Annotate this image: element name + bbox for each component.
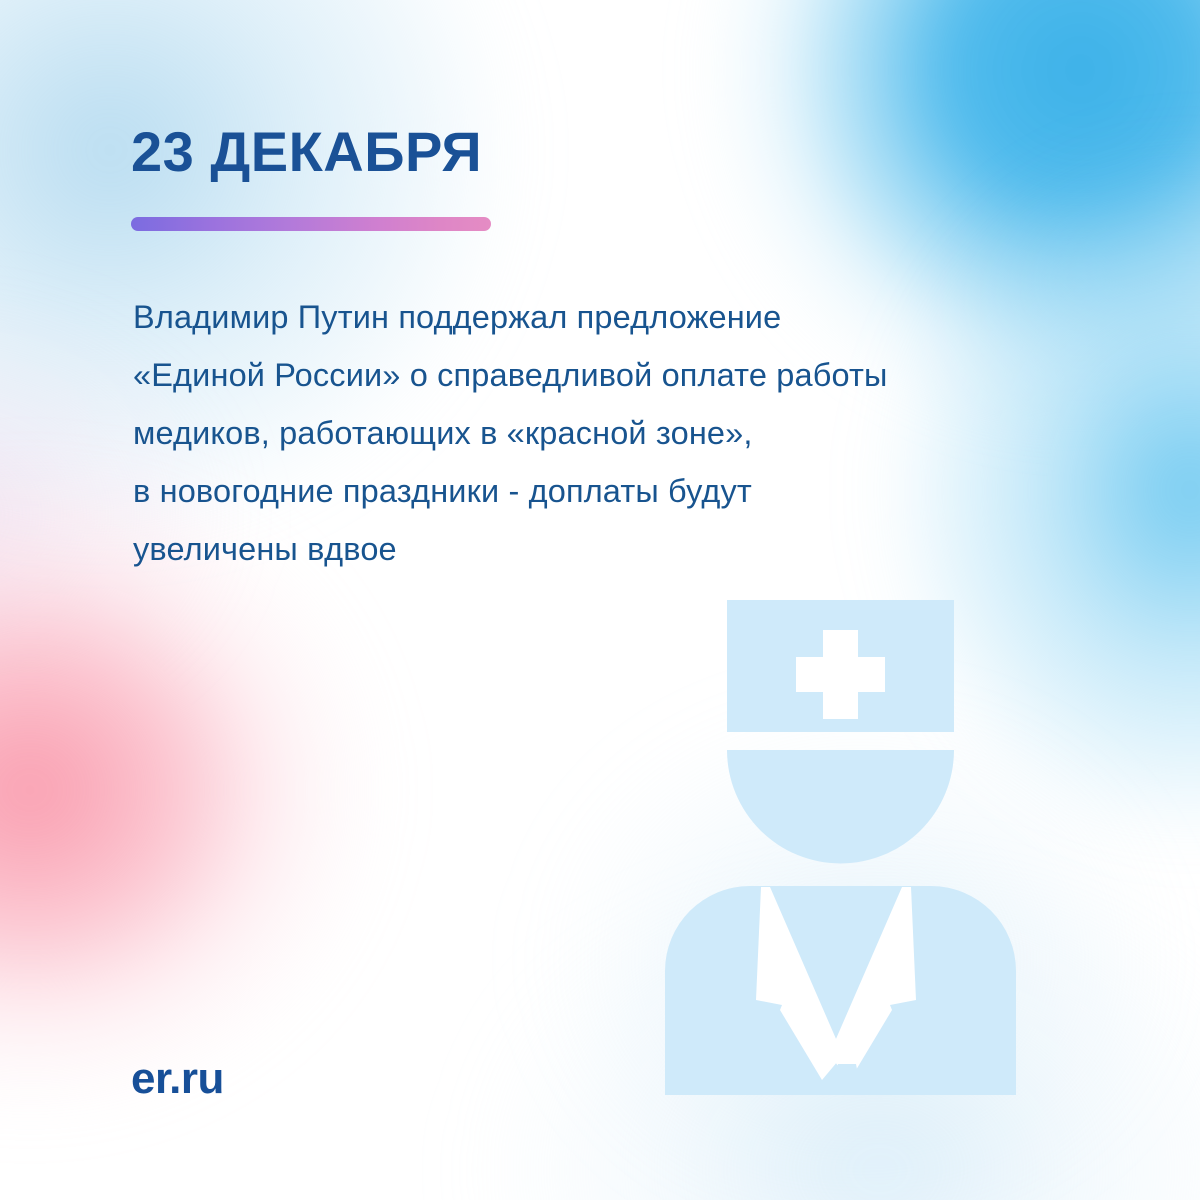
body-paragraph: Владимир Путин поддержал предложение «Ед… [133,288,1093,578]
gradient-divider [131,217,491,231]
body-line: в новогодние праздники - доплаты будут [133,462,1093,520]
site-logo[interactable]: er.ru [131,1057,224,1101]
page-title: 23 ДЕКАБРЯ [131,124,482,180]
body-line: увеличены вдвое [133,520,1093,578]
body-line: медиков, работающих в «красной зоне», [133,404,1093,462]
poster-canvas: 23 ДЕКАБРЯ Владимир Путин поддержал пред… [0,0,1200,1200]
body-line: Владимир Путин поддержал предложение [133,288,1093,346]
poster-content: 23 ДЕКАБРЯ Владимир Путин поддержал пред… [131,0,1111,1200]
body-line: «Единой России» о справедливой оплате ра… [133,346,1093,404]
